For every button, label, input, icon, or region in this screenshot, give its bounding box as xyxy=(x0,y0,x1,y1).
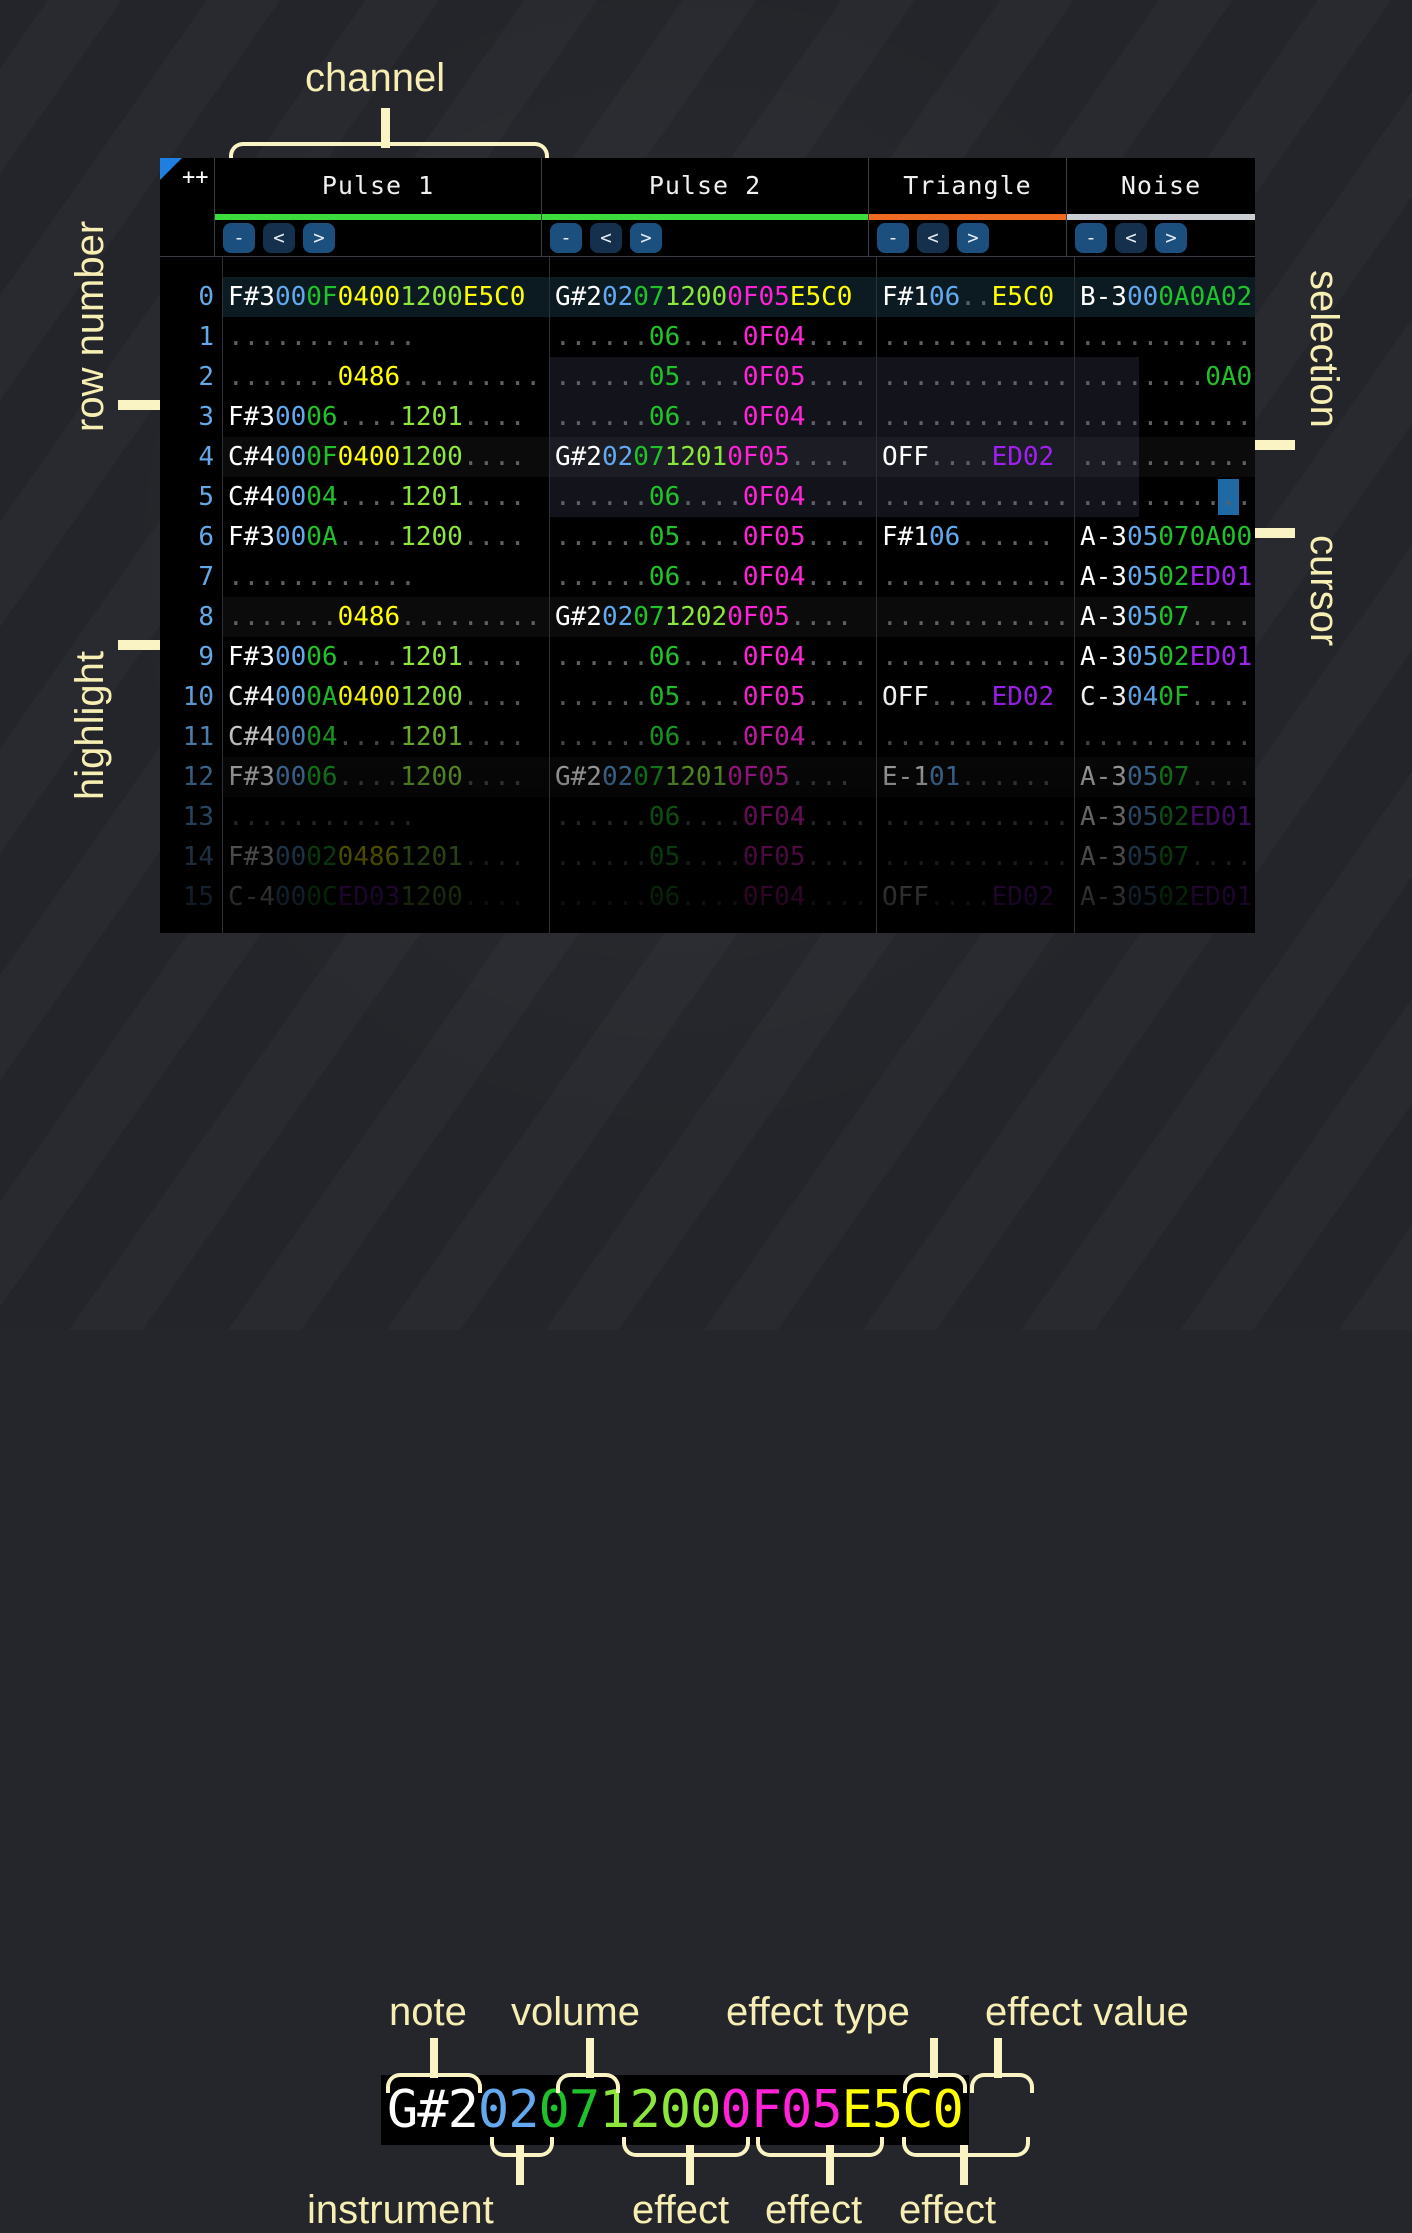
pattern-cell[interactable]: F#30006....1201.... xyxy=(228,637,525,677)
channel-button-row: -<> xyxy=(869,220,1066,256)
pattern-cell[interactable]: ......05....0F05.... xyxy=(555,837,868,877)
pattern-cell[interactable]: ......06....0F04.... xyxy=(555,317,868,357)
cell-token-dot: ............ xyxy=(228,802,416,832)
pattern-cell[interactable]: ............ xyxy=(882,477,1070,517)
pattern-cell[interactable]: ............ xyxy=(882,717,1070,757)
cell-token-dot: .... xyxy=(680,562,743,592)
cell-token-dot: .... xyxy=(463,842,526,872)
row-number-label: 1 xyxy=(160,317,222,357)
row-number-label: 10 xyxy=(160,677,222,717)
cell-token-inst: 04 xyxy=(1127,682,1158,712)
channel-next-button[interactable]: > xyxy=(303,223,335,253)
pattern-cell[interactable]: .......0486......... xyxy=(228,597,541,637)
cell-token-dot: .. xyxy=(960,282,991,312)
pattern-row[interactable]: 0F#3000F04001200E5C0G#2020712000F05E5C0F… xyxy=(160,277,1255,317)
cell-token-note: F#3 xyxy=(228,842,275,872)
cell-token-dot: .... xyxy=(929,682,992,712)
cell-token-note: G#2 xyxy=(555,602,602,632)
pattern-cell[interactable]: ......06....0F04.... xyxy=(555,397,868,437)
cell-token-vol: 02 xyxy=(306,842,337,872)
cell-token-dot: ............ xyxy=(882,482,1070,512)
cell-token-fx2: 0F05 xyxy=(743,522,806,552)
pattern-row[interactable]: 6F#3000A....1200..........05....0F05....… xyxy=(160,517,1255,557)
pattern-row[interactable]: 7..................06....0F04...........… xyxy=(160,557,1255,597)
legend-bracket-volume xyxy=(556,2073,620,2093)
cell-token-vol: 04 xyxy=(306,722,337,752)
cell-token-inst: 05 xyxy=(1127,562,1158,592)
cell-token-note: A-3 xyxy=(1080,602,1127,632)
cell-token-note: A-3 xyxy=(1080,522,1127,552)
cell-token-fxp: ED01 xyxy=(1190,642,1253,672)
pattern-cell[interactable]: G#2020712020F05.... xyxy=(555,597,852,637)
cell-token-note: C#4 xyxy=(228,722,275,752)
pattern-editor[interactable]: ++ Pulse 1-<>Pulse 2-<>Triangle-<>Noise-… xyxy=(160,158,1255,933)
cell-token-dot: ............ xyxy=(1080,442,1255,472)
cell-token-dot: ............ xyxy=(228,562,416,592)
cell-token-fx2: 0F04 xyxy=(743,802,806,832)
pattern-cell[interactable]: .......0486......... xyxy=(228,357,541,397)
cell-token-dot: ...... xyxy=(555,482,649,512)
cell-token-note: C-3 xyxy=(1080,682,1127,712)
cell-token-vol: 04 xyxy=(306,482,337,512)
cell-token-dot: .... xyxy=(463,442,526,472)
pattern-cell[interactable]: F#3000A....1200.... xyxy=(228,517,525,557)
cell-token-dot: ...... xyxy=(960,522,1054,552)
pattern-cell[interactable]: ............ xyxy=(882,797,1070,837)
cell-token-dot: ...... xyxy=(555,802,649,832)
cell-token-note: G#2 xyxy=(555,762,602,792)
cell-token-dot: .... xyxy=(790,602,853,632)
cell-token-vol: 06 xyxy=(649,642,680,672)
channel-header-triangle[interactable]: Triangle-<> xyxy=(869,158,1067,256)
legend-label-effect-value: effect value xyxy=(985,1990,1189,2035)
channel-mute-button[interactable]: - xyxy=(877,223,909,253)
channel-prev-button[interactable]: < xyxy=(1115,223,1147,253)
cell-token-inst: 00 xyxy=(275,402,306,432)
cell-token-fx3: 0400 xyxy=(338,282,401,312)
cell-token-fx2: 0F04 xyxy=(743,402,806,432)
pattern-row[interactable]: 1..................06....0F04...........… xyxy=(160,317,1255,357)
cell-token-fx2: 0F04 xyxy=(743,562,806,592)
cell-token-inst: 00 xyxy=(1127,282,1158,312)
channel-header-pulse-2[interactable]: Pulse 2-<> xyxy=(542,158,869,256)
cell-token-fx2: 0F05 xyxy=(727,602,790,632)
row-number-label: 5 xyxy=(160,477,222,517)
annotation-row-number: row number xyxy=(68,221,113,432)
cell-token-dot: .... xyxy=(805,362,868,392)
channel-name-label: Pulse 1 xyxy=(215,158,541,214)
cell-token-dot: ....... xyxy=(228,362,338,392)
pattern-corner-cell[interactable]: ++ xyxy=(160,158,215,256)
pattern-row[interactable]: 8.......0486.........G#2020712020F05....… xyxy=(160,597,1255,637)
cell-token-fx1: 1201 xyxy=(400,642,463,672)
legend-bracket-effect-3 xyxy=(902,2137,1030,2157)
cell-token-inst: 00 xyxy=(275,642,306,672)
pattern-cell[interactable]: OFF....ED02 xyxy=(882,437,1054,477)
pattern-cell[interactable]: F#3000F04001200E5C0 xyxy=(228,277,525,317)
pattern-cell[interactable]: ......06....0F04.... xyxy=(555,717,868,757)
cell-token-dot: ............ xyxy=(1080,322,1255,352)
cell-token-vol: 06 xyxy=(649,402,680,432)
pattern-row[interactable]: 10C#4000A04001200..........05....0F05...… xyxy=(160,677,1255,717)
cell-token-vol: 06 xyxy=(306,762,337,792)
legend-label-note: note xyxy=(389,1990,467,2035)
legend-label-effect-1: effect xyxy=(632,2188,729,2233)
pattern-cell[interactable]: ............ xyxy=(228,317,416,357)
cell-token-inst: 00 xyxy=(275,522,306,552)
pattern-cell[interactable]: ......06....0F04.... xyxy=(555,637,868,677)
pattern-row[interactable]: 12F#30006....1200....G#2020712010F05....… xyxy=(160,757,1255,797)
cell-token-fx1: 1200 xyxy=(400,762,463,792)
cell-token-fx2: 0F05 xyxy=(743,842,806,872)
cell-token-note: A-3 xyxy=(1080,762,1127,792)
pattern-rows[interactable]: 0F#3000F04001200E5C0G#2020712000F05E5C0F… xyxy=(160,257,1255,933)
cell-token-dot: .... xyxy=(463,522,526,552)
legend-token-fx2: 0F05 xyxy=(720,2080,841,2140)
cell-token-dot: ............ xyxy=(882,322,1070,352)
column-separator-3 xyxy=(1074,257,1075,933)
cell-token-inst: 00 xyxy=(275,282,306,312)
pattern-row[interactable]: 4C#4000F04001200....G#2020712010F05....O… xyxy=(160,437,1255,477)
cell-token-fxp: ED03 xyxy=(338,882,401,912)
pattern-cell[interactable]: OFF....ED02 xyxy=(882,677,1054,717)
legend-bracket-note xyxy=(386,2073,482,2093)
cell-token-dot: .... xyxy=(1190,682,1253,712)
channel-next-button[interactable]: > xyxy=(1155,223,1187,253)
cell-token-vol: 0F xyxy=(306,282,337,312)
cell-token-dot: ............ xyxy=(882,602,1070,632)
cell-token-vol: 07 xyxy=(633,442,664,472)
pattern-cell[interactable]: C#4000F04001200.... xyxy=(228,437,525,477)
row-number-label: 6 xyxy=(160,517,222,557)
cell-token-inst: 05 xyxy=(1127,802,1158,832)
cell-token-fx3: 0400 xyxy=(338,442,401,472)
column-separator-1 xyxy=(549,257,550,933)
cell-token-fx3: 0486 xyxy=(338,842,401,872)
pattern-cell[interactable]: A-305070A00 xyxy=(1080,517,1252,557)
pattern-cell[interactable]: ......06....0F04.... xyxy=(555,557,868,597)
cell-token-dot: .... xyxy=(805,322,868,352)
cell-token-dot: ............ xyxy=(882,402,1070,432)
legend-bracket-effect-1 xyxy=(622,2137,750,2157)
pattern-cell[interactable]: ......05....0F05.... xyxy=(555,357,868,397)
pattern-cell[interactable]: F#30006....1201.... xyxy=(228,397,525,437)
pattern-cell[interactable]: E-101...... xyxy=(882,757,1054,797)
cell-token-fx2: 0F05 xyxy=(727,762,790,792)
cell-token-fx3: 0400 xyxy=(338,682,401,712)
legend-token-inst: 02 xyxy=(478,2080,539,2140)
cell-token-dot: .... xyxy=(680,482,743,512)
row-number-label: 11 xyxy=(160,717,222,757)
cell-token-fx3: 0486 xyxy=(338,602,401,632)
channel-next-button[interactable]: > xyxy=(630,223,662,253)
pattern-cell[interactable]: ............ xyxy=(1080,317,1255,357)
cell-token-dot: .... xyxy=(805,642,868,672)
legend-bracket-instrument xyxy=(490,2137,554,2157)
cell-token-fx1: 1201 xyxy=(665,762,728,792)
pattern-cell[interactable]: A-30507.... xyxy=(1080,757,1252,797)
cell-token-dot: .... xyxy=(680,362,743,392)
cell-token-dot: .... xyxy=(338,642,401,672)
pattern-row[interactable]: 9F#30006....1201..........06....0F04....… xyxy=(160,637,1255,677)
cell-token-inst: 01 xyxy=(929,762,960,792)
cell-token-vol: 0F xyxy=(1158,682,1189,712)
channel-header-pulse-1[interactable]: Pulse 1-<> xyxy=(215,158,542,256)
pattern-cell[interactable]: OFF....ED02 xyxy=(882,877,1054,917)
cell-token-fx1: 1200 xyxy=(400,282,463,312)
pattern-cell[interactable]: ............ xyxy=(882,597,1070,637)
cell-token-vol: 05 xyxy=(649,682,680,712)
row-number-label: 8 xyxy=(160,597,222,637)
cell-token-dot: .... xyxy=(805,882,868,912)
cell-token-fx1: 1201 xyxy=(400,482,463,512)
cell-token-dot: .... xyxy=(805,842,868,872)
cell-token-dot: .... xyxy=(463,642,526,672)
cell-token-dot: ............ xyxy=(882,802,1070,832)
cell-token-note: G#2 xyxy=(555,282,602,312)
channel-button-row: -<> xyxy=(215,220,541,256)
cell-token-inst: 02 xyxy=(602,762,633,792)
pattern-cell[interactable]: ............ xyxy=(1080,717,1255,757)
cell-token-dot: .... xyxy=(463,482,526,512)
cell-token-note: B-3 xyxy=(1080,282,1127,312)
pattern-cell[interactable]: B-3000A0A02 xyxy=(1080,277,1252,317)
cell-token-note: C#4 xyxy=(228,442,275,472)
pattern-cell[interactable]: ............ xyxy=(1080,397,1255,437)
cell-token-vol: 02 xyxy=(1158,562,1189,592)
cell-token-inst: 05 xyxy=(1127,642,1158,672)
cell-token-inst: 00 xyxy=(275,882,306,912)
pattern-cell[interactable]: ............ xyxy=(882,637,1070,677)
cell-token-fx1: 1200 xyxy=(665,282,728,312)
pattern-cell[interactable]: C#4000A04001200.... xyxy=(228,677,525,717)
cell-token-dot: .... xyxy=(338,762,401,792)
cell-token-fx2: 0F05 xyxy=(743,362,806,392)
pattern-cell[interactable]: ............ xyxy=(882,397,1070,437)
legend-leader-volume xyxy=(586,2038,594,2078)
cell-token-inst: 00 xyxy=(275,442,306,472)
cell-token-note: A-3 xyxy=(1080,842,1127,872)
channel-header-noise[interactable]: Noise-<> xyxy=(1067,158,1255,256)
legend-bracket-effect-2 xyxy=(756,2137,884,2157)
cell-token-dot: .... xyxy=(680,682,743,712)
cell-token-vol: 07 xyxy=(1158,762,1189,792)
cell-token-dot: ...... xyxy=(555,642,649,672)
cell-token-dot: ............ xyxy=(1080,722,1255,752)
pattern-cell[interactable]: ......05....0F05.... xyxy=(555,677,868,717)
cell-token-fxp: ED02 xyxy=(992,882,1055,912)
pattern-row[interactable]: 3F#30006....1201..........06....0F04....… xyxy=(160,397,1255,437)
legend-label-volume: volume xyxy=(511,1990,640,2035)
cell-token-inst: 02 xyxy=(602,282,633,312)
pattern-cell[interactable]: ............ xyxy=(882,837,1070,877)
pattern-row[interactable]: 13..................06....0F04..........… xyxy=(160,797,1255,837)
cell-token-dot: ...... xyxy=(555,522,649,552)
pattern-cell[interactable]: ............ xyxy=(882,357,1070,397)
pattern-cell[interactable]: ............ xyxy=(228,557,416,597)
cell-token-dot: ............ xyxy=(1080,482,1255,512)
pattern-cell[interactable]: ......05....0F05.... xyxy=(555,517,868,557)
cell-token-vol: 07 xyxy=(633,762,664,792)
cell-token-dot: .... xyxy=(338,482,401,512)
cell-token-note: F#3 xyxy=(228,402,275,432)
cell-token-inst: 00 xyxy=(275,762,306,792)
pattern-row[interactable]: 11C#40004....1201..........06....0F04...… xyxy=(160,717,1255,757)
channel-prev-button[interactable]: < xyxy=(590,223,622,253)
cell-token-note: G#2 xyxy=(555,442,602,472)
cell-token-vol: 02 xyxy=(1158,642,1189,672)
pattern-cell[interactable]: F#3000204861201.... xyxy=(228,837,525,877)
pattern-cell[interactable]: F#106...... xyxy=(882,517,1054,557)
cell-token-dot: ............ xyxy=(882,842,1070,872)
cell-token-dot: .... xyxy=(338,722,401,752)
pattern-cell[interactable]: A-30502ED01 xyxy=(1080,797,1252,837)
row-number-label: 3 xyxy=(160,397,222,437)
cell-token-dot: .... xyxy=(338,402,401,432)
pattern-row[interactable]: 15C-4000CED031200..........06....0F04...… xyxy=(160,877,1255,917)
cell-token-fx1: 1201 xyxy=(400,402,463,432)
legend-bracket-effect-type xyxy=(903,2073,967,2093)
annotation-channel: channel xyxy=(305,56,445,101)
cell-token-fx2: 0F05 xyxy=(727,442,790,472)
legend-bracket-effect-value xyxy=(970,2073,1034,2093)
corner-triangle-icon xyxy=(160,158,182,180)
channel-headers: Pulse 1-<>Pulse 2-<>Triangle-<>Noise-<> xyxy=(215,158,1255,256)
cell-token-note: A-3 xyxy=(1080,562,1127,592)
pattern-cell[interactable]: G#2020712010F05.... xyxy=(555,437,852,477)
cell-token-inst: 05 xyxy=(1127,762,1158,792)
legend-leader-effect-type xyxy=(930,2038,938,2078)
cell-token-vol: 0A xyxy=(306,682,337,712)
cell-token-vol: 02 xyxy=(1158,882,1189,912)
cell-token-fx1: 1200 xyxy=(400,882,463,912)
cell-token-fx1: 1201 xyxy=(400,722,463,752)
cell-token-inst: 06 xyxy=(929,522,960,552)
pattern-cell[interactable]: A-30502ED01 xyxy=(1080,557,1252,597)
cell-token-vol: 07 xyxy=(633,602,664,632)
pattern-cell[interactable]: G#2020712000F05E5C0 xyxy=(555,277,852,317)
pattern-cell[interactable]: F#106..E5C0 xyxy=(882,277,1054,317)
channel-name-label: Triangle xyxy=(869,158,1066,214)
pattern-cell[interactable]: C#40004....1201.... xyxy=(228,717,525,757)
cell-token-inst: 00 xyxy=(275,682,306,712)
cell-token-dot: ............ xyxy=(882,362,1070,392)
cell-token-dot: ............ xyxy=(882,642,1070,672)
cell-token-dot: .... xyxy=(463,882,526,912)
annotation-selection: selection xyxy=(1301,270,1346,428)
row-number-label: 14 xyxy=(160,837,222,877)
pattern-cell[interactable]: ............ xyxy=(228,797,416,837)
cell-token-fx1: 1200 xyxy=(400,682,463,712)
row-number-label: 2 xyxy=(160,357,222,397)
cell-token-dot: .... xyxy=(680,322,743,352)
pattern-cell[interactable]: G#2020712010F05.... xyxy=(555,757,852,797)
pattern-cell[interactable]: C-4000CED031200.... xyxy=(228,877,525,917)
pattern-cell[interactable]: C#40004....1201.... xyxy=(228,477,525,517)
cell-token-inst: 00 xyxy=(275,722,306,752)
pattern-cell[interactable]: ......06....0F04.... xyxy=(555,477,868,517)
cell-token-fxg: 0A00 xyxy=(1190,522,1253,552)
pattern-row[interactable]: 5C#40004....1201..........06....0F04....… xyxy=(160,477,1255,517)
channel-name-label: Pulse 2 xyxy=(542,158,868,214)
cell-token-note: A-3 xyxy=(1080,882,1127,912)
pattern-cell[interactable]: A-30502ED01 xyxy=(1080,637,1252,677)
pattern-cell[interactable]: A-30502ED01 xyxy=(1080,877,1252,917)
cell-token-dot: .... xyxy=(680,842,743,872)
annotation-highlight: highlight xyxy=(68,651,113,800)
cell-token-dot: ...... xyxy=(960,762,1054,792)
channel-prev-button[interactable]: < xyxy=(917,223,949,253)
cell-token-dot: ............ xyxy=(882,722,1070,752)
cell-token-fx2: 0F04 xyxy=(743,482,806,512)
pattern-cell[interactable]: A-30507.... xyxy=(1080,597,1252,637)
cell-token-vol: 06 xyxy=(649,562,680,592)
cell-token-note: A-3 xyxy=(1080,802,1127,832)
cell-token-fxp: ED01 xyxy=(1190,562,1253,592)
channel-next-button[interactable]: > xyxy=(957,223,989,253)
pattern-row[interactable]: 2.......0486...............05....0F05...… xyxy=(160,357,1255,397)
channel-header-row: ++ Pulse 1-<>Pulse 2-<>Triangle-<>Noise-… xyxy=(160,158,1255,256)
cell-token-vol: 07 xyxy=(1158,842,1189,872)
cell-token-fx1: 1200 xyxy=(400,442,463,472)
cell-token-dot: ....... xyxy=(228,602,338,632)
pattern-cell[interactable]: C-3040F.... xyxy=(1080,677,1252,717)
cell-token-fx1: 1202 xyxy=(665,602,728,632)
cell-token-dot: .... xyxy=(1190,762,1253,792)
pattern-cell[interactable]: ............ xyxy=(882,317,1070,357)
cell-token-note: OFF xyxy=(882,882,929,912)
row-number-label: 15 xyxy=(160,877,222,917)
cell-token-dot: ...... xyxy=(555,882,649,912)
pattern-cell[interactable]: ......06....0F04.... xyxy=(555,877,868,917)
cell-token-fx2: 0F05 xyxy=(743,682,806,712)
cell-token-vol: 05 xyxy=(649,362,680,392)
pattern-cell[interactable]: ............ xyxy=(1080,477,1255,517)
cell-token-fxp: ED01 xyxy=(1190,802,1253,832)
cell-token-vol: 06 xyxy=(306,642,337,672)
legend-label-effect-type: effect type xyxy=(726,1990,910,2035)
legend-label-effect-3: effect xyxy=(899,2188,996,2233)
channel-mute-button[interactable]: - xyxy=(1075,223,1107,253)
cell-token-fxp: ED02 xyxy=(992,682,1055,712)
pattern-cell[interactable]: F#30006....1200.... xyxy=(228,757,525,797)
cell-token-note: C#4 xyxy=(228,682,275,712)
pattern-row[interactable]: 14F#3000204861201..........05....0F05...… xyxy=(160,837,1255,877)
pattern-cell[interactable]: ........0A01 xyxy=(1080,357,1255,397)
cell-token-vol: 05 xyxy=(649,842,680,872)
cell-token-fx3: 0486 xyxy=(338,362,401,392)
cell-token-vol: 0A xyxy=(1158,282,1189,312)
channel-mute-button[interactable]: - xyxy=(550,223,582,253)
cell-token-dot: .... xyxy=(805,722,868,752)
cell-token-dot: .... xyxy=(680,642,743,672)
cell-token-note: F#3 xyxy=(228,762,275,792)
channel-name-label: Noise xyxy=(1067,158,1255,214)
pattern-cell[interactable]: A-30507.... xyxy=(1080,837,1252,877)
cell-token-note: F#3 xyxy=(228,642,275,672)
cell-token-note: F#1 xyxy=(882,522,929,552)
cell-token-dot: .... xyxy=(790,442,853,472)
cell-token-dot: .... xyxy=(929,882,992,912)
corner-label: ++ xyxy=(182,165,209,190)
pattern-cell[interactable]: ............ xyxy=(882,557,1070,597)
channel-prev-button[interactable]: < xyxy=(263,223,295,253)
cell-token-dot: .... xyxy=(680,882,743,912)
pattern-cell[interactable]: ............ xyxy=(1080,437,1255,477)
channel-mute-button[interactable]: - xyxy=(223,223,255,253)
pattern-cell[interactable]: ......06....0F04.... xyxy=(555,797,868,837)
cell-token-fx3: E5C0 xyxy=(992,282,1055,312)
